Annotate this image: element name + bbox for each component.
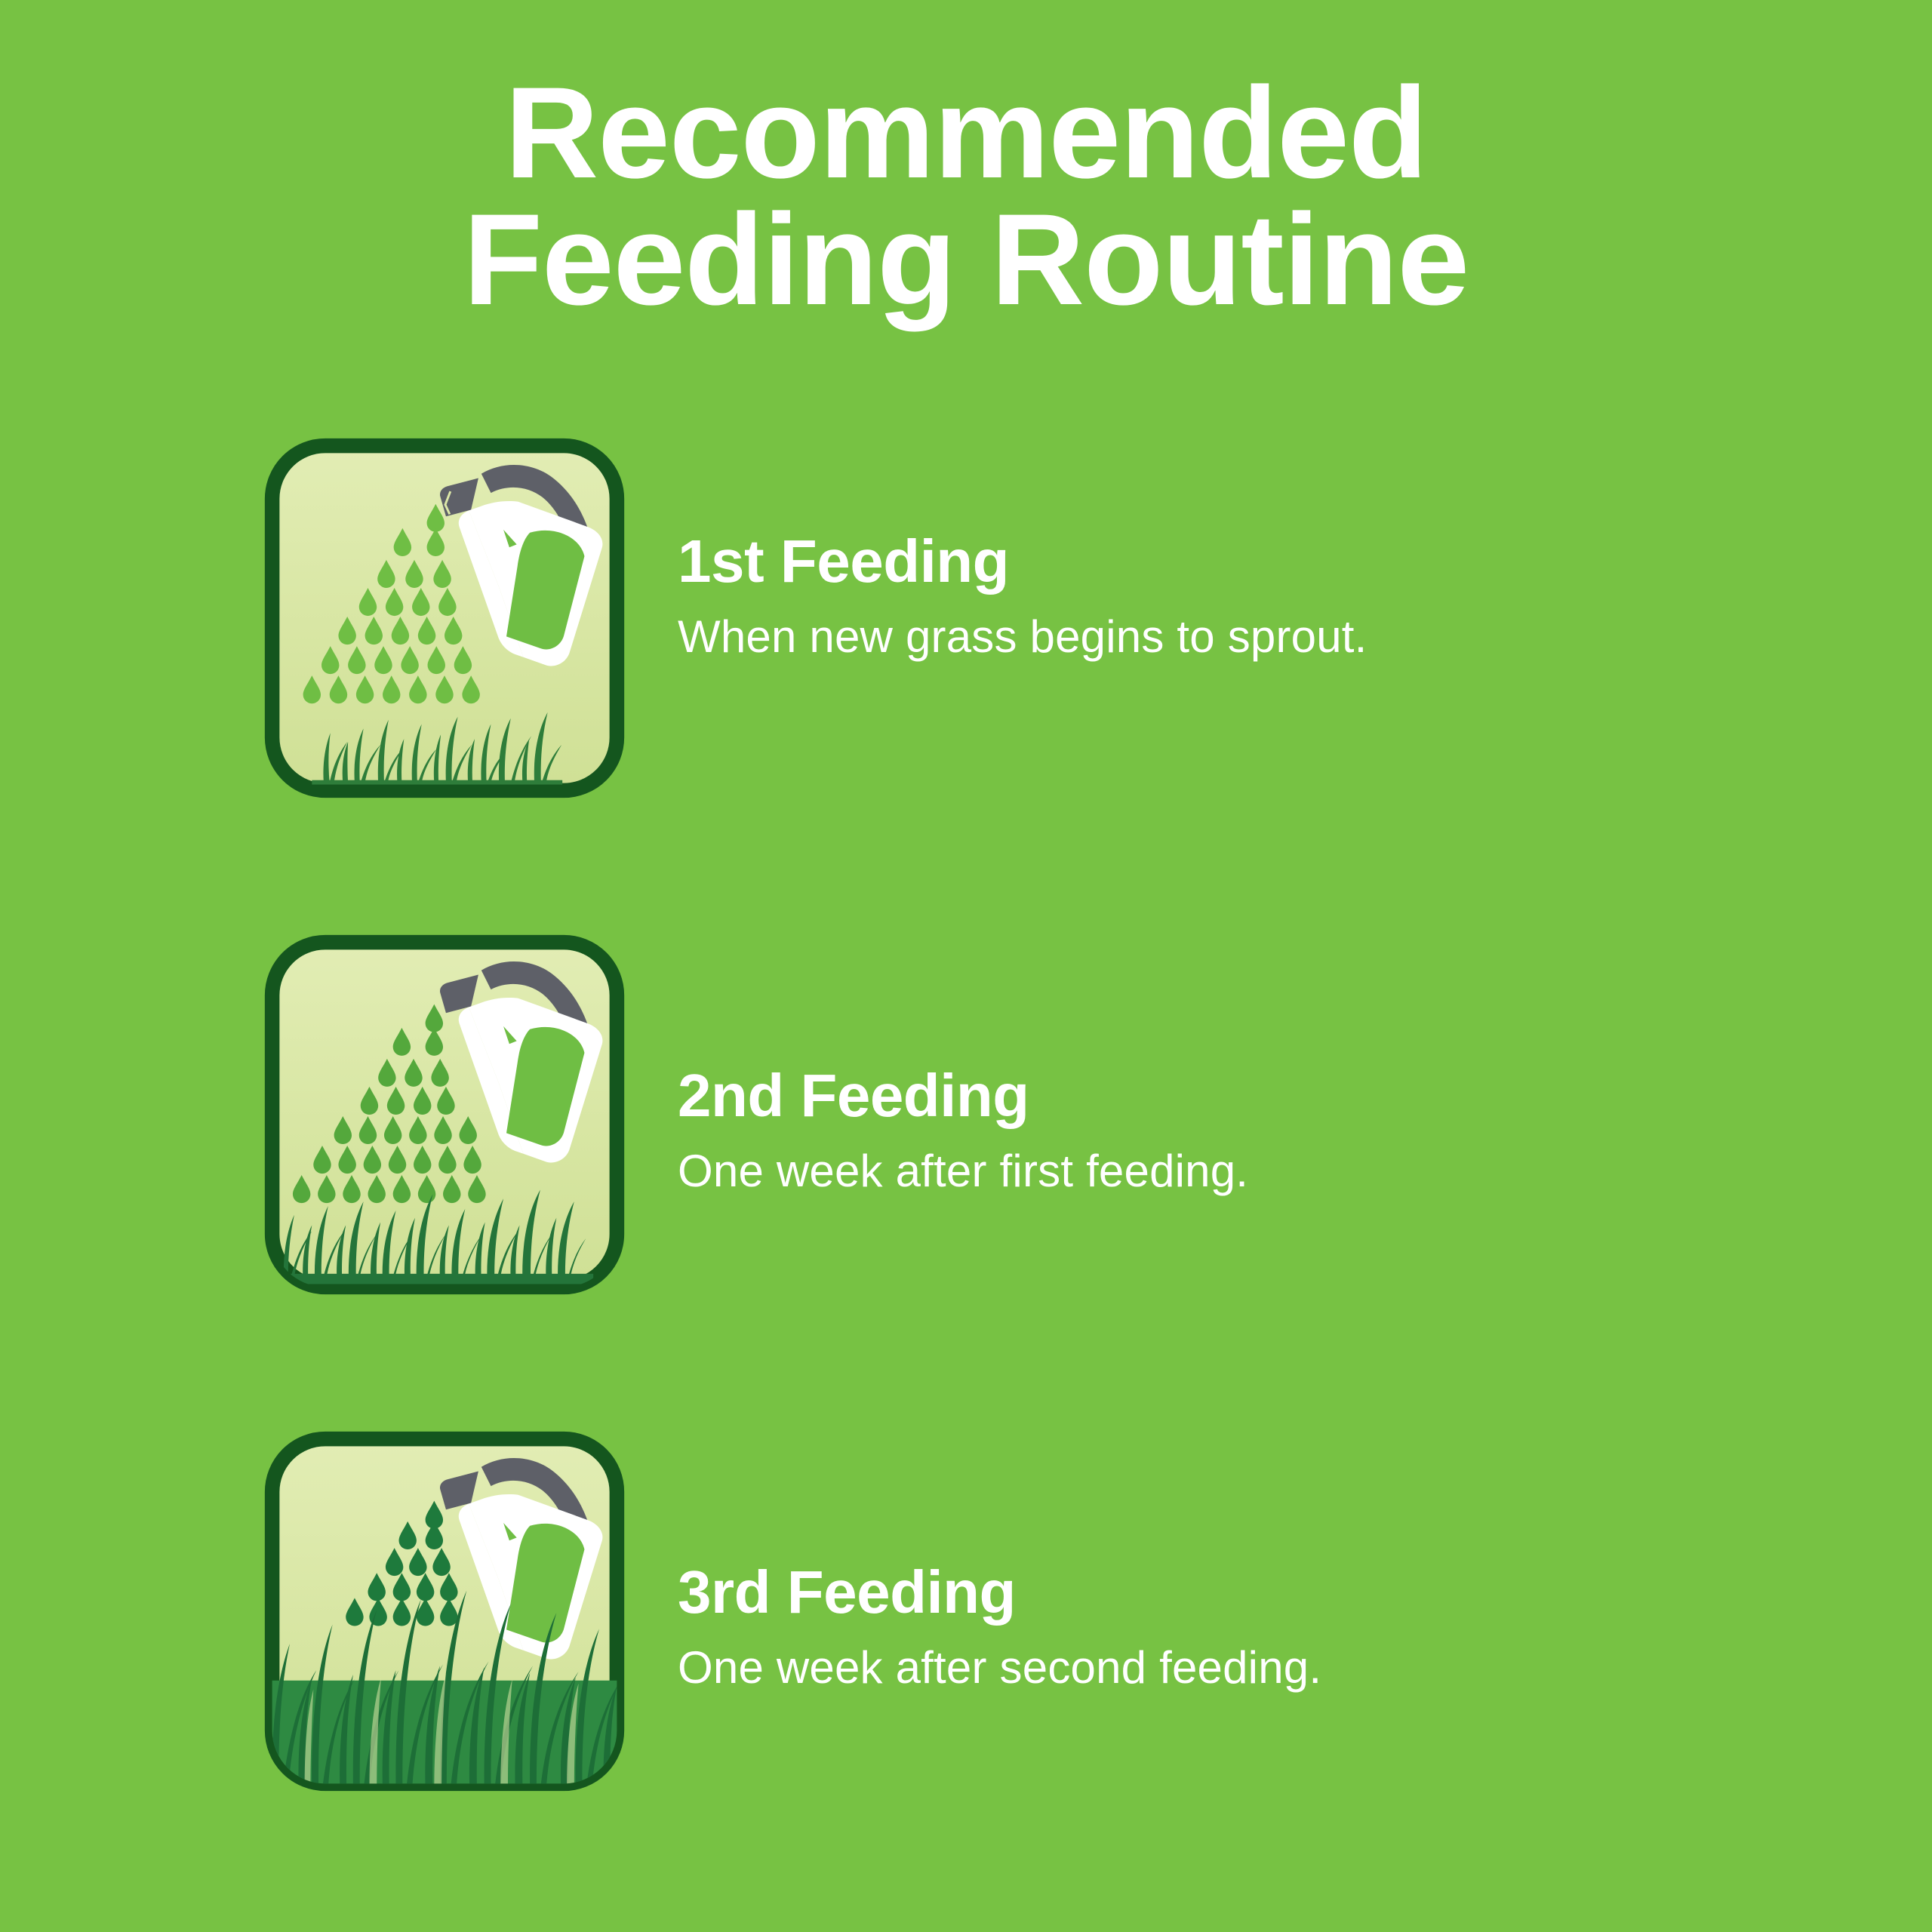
page-title: Recommended Feeding Routine	[0, 69, 1932, 323]
feeding-step-text-1: 1st Feeding When new grass begins to spr…	[678, 527, 1855, 664]
feeding-step-row-2: 2nd Feeding One week after first feeding…	[0, 927, 1932, 1304]
feeding-step-description-3: One week after second feeding.	[678, 1641, 1855, 1695]
feeding-step-title-3: 3rd Feeding	[678, 1558, 1855, 1627]
feeding-routine-poster: Recommended Feeding Routine	[0, 0, 1932, 1932]
feeding-step-row-1: 1st Feeding When new grass begins to spr…	[0, 430, 1932, 808]
feeding-step-row-3: 3rd Feeding One week after second feedin…	[0, 1423, 1932, 1801]
page-title-line-2: Feeding Routine	[0, 196, 1932, 323]
page-title-line-1: Recommended	[0, 69, 1932, 196]
feeding-step-title-1: 1st Feeding	[678, 527, 1855, 596]
watering-can-sprouting-grass-icon	[260, 434, 629, 802]
feeding-step-description-2: One week after first feeding.	[678, 1144, 1855, 1198]
watering-can-tall-grass-icon	[260, 1427, 629, 1795]
feeding-step-description-1: When new grass begins to sprout.	[678, 610, 1855, 664]
feeding-step-title-2: 2nd Feeding	[678, 1061, 1855, 1131]
feeding-step-text-2: 2nd Feeding One week after first feeding…	[678, 1061, 1855, 1198]
feeding-step-text-3: 3rd Feeding One week after second feedin…	[678, 1558, 1855, 1695]
watering-can-growing-grass-icon	[260, 931, 629, 1299]
